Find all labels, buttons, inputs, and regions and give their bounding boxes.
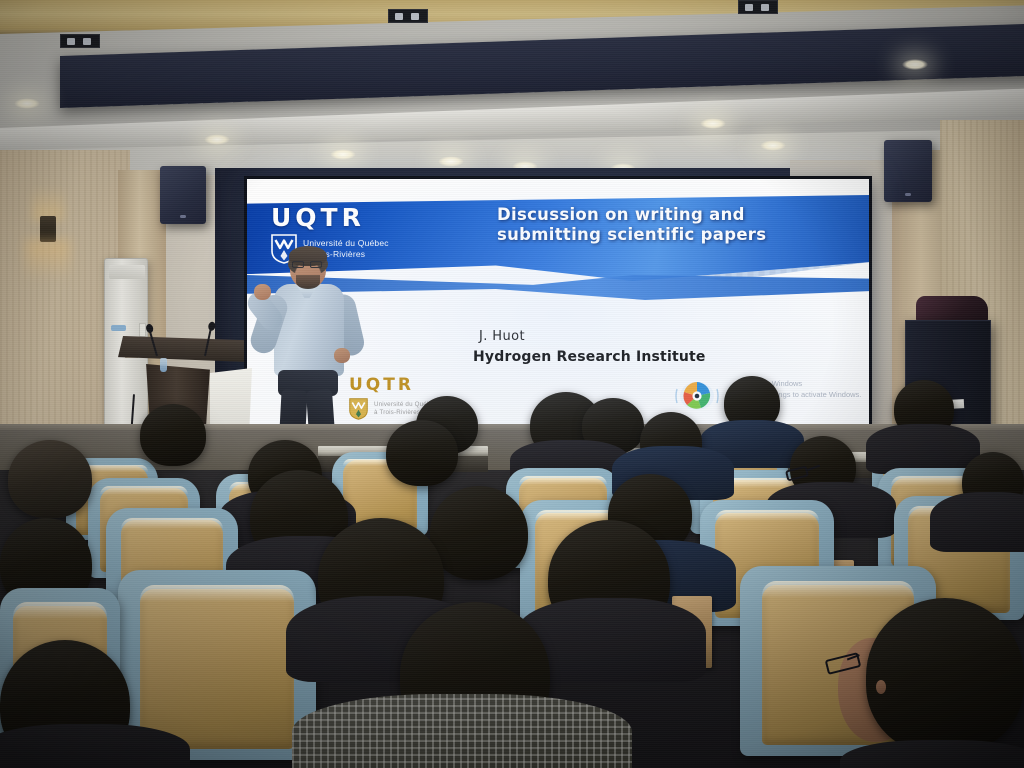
audience-head: [140, 404, 206, 466]
audience-head-foreground: [866, 598, 1024, 754]
wall-speaker-right: [884, 140, 932, 202]
recessed-light-fixture: [388, 9, 428, 23]
ac-badge-icon: [111, 325, 126, 331]
slide-title-line2: submitting scientific papers: [497, 225, 857, 245]
ceiling-downlight: [760, 140, 786, 151]
audience-head: [430, 486, 528, 580]
slide-institute-name: Hydrogen Research Institute: [473, 349, 706, 365]
presenter-right-hand-gesture: [254, 284, 271, 300]
wall-sconce-lamp: [40, 216, 56, 242]
ac-label: [139, 323, 146, 337]
ceiling-downlight: [330, 149, 356, 160]
lecture-hall-photo: UQTR Université du Québec à Trois-Rivièr…: [0, 0, 1024, 768]
presenter-glasses-icon: [292, 261, 324, 268]
sconce-uplight-glow: [32, 186, 64, 220]
ac-grille-icon: [109, 265, 145, 279]
audience-plaid-jacket: [292, 694, 632, 768]
ceiling-downlight: [902, 59, 928, 70]
ceiling-downlight: [438, 156, 464, 167]
audience-shoulders: [866, 424, 980, 474]
audience-shoulders: [0, 724, 190, 768]
circular-multicolor-logo: [671, 377, 723, 415]
recessed-light-fixture: [738, 0, 778, 14]
presenter-speaker: [248, 248, 376, 448]
audience-shoulders: [930, 492, 1024, 552]
uqtr-wordmark: UQTR: [271, 205, 451, 230]
audience-head: [386, 420, 458, 486]
ceiling-downlight: [14, 98, 40, 109]
water-bottle: [160, 358, 167, 372]
ceiling-downlight: [204, 134, 230, 145]
sconce-downlight-glow: [26, 240, 70, 280]
slide-title-line1: Discussion on writing and: [497, 205, 857, 225]
wall-speaker-left: [160, 166, 206, 224]
podium-top-surface: [118, 336, 244, 370]
ceiling-downlight: [700, 118, 726, 129]
slide-author-name: J. Huot: [479, 329, 525, 344]
slide-title: Discussion on writing and submitting sci…: [497, 205, 857, 245]
recessed-light-fixture: [60, 34, 100, 48]
presenter-beard: [296, 275, 320, 289]
audience-head: [8, 440, 92, 518]
presenter-left-hand: [334, 348, 350, 363]
audience-ear: [876, 680, 886, 694]
